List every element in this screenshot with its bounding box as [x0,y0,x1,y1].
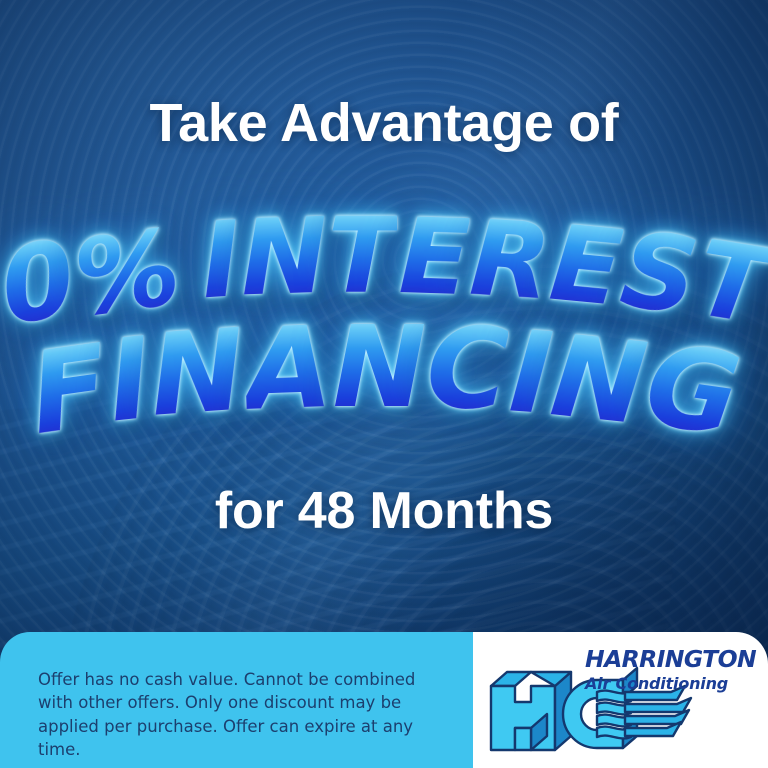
disclaimer-text: Offer has no cash value. Cannot be combi… [38,668,443,762]
headline-top: Take Advantage of [0,92,768,154]
hero-char: N [147,317,246,433]
hero-char: N [333,314,425,424]
hero-char: E [397,206,469,310]
logo-company-name: HARRINGTON [585,648,751,672]
hero-char: N [239,206,327,311]
hero-char: T [328,206,397,308]
promo-poster: Take Advantage of 0% INTEREST FINANCING … [0,0,768,768]
headline-bottom: for 48 Months [0,481,768,541]
disclaimer-panel: Offer has no cash value. Cannot be combi… [0,632,473,768]
hero-wordart: 0% INTEREST FINANCING [0,196,768,456]
hero-char: I [506,318,553,430]
logo-panel: HARRINGTON Air Conditioning [473,632,768,768]
hero-char: A [243,314,331,427]
hero-char: F [24,332,113,451]
hero-char: G [639,331,743,452]
hero-char: C [425,314,509,426]
hero-line-financing: FINANCING [0,314,768,424]
hero-char: E [546,213,624,321]
hero-char: N [547,322,650,441]
hero-line-interest: 0% INTEREST [0,206,768,308]
logo-company-subtitle: Air Conditioning [585,676,751,692]
hero-char: S [616,219,701,329]
hero-char: I [198,209,241,313]
hero-char: R [467,208,551,315]
company-logo[interactable]: HARRINGTON Air Conditioning [485,646,753,756]
logo-text-block: HARRINGTON Air Conditioning [585,648,751,692]
